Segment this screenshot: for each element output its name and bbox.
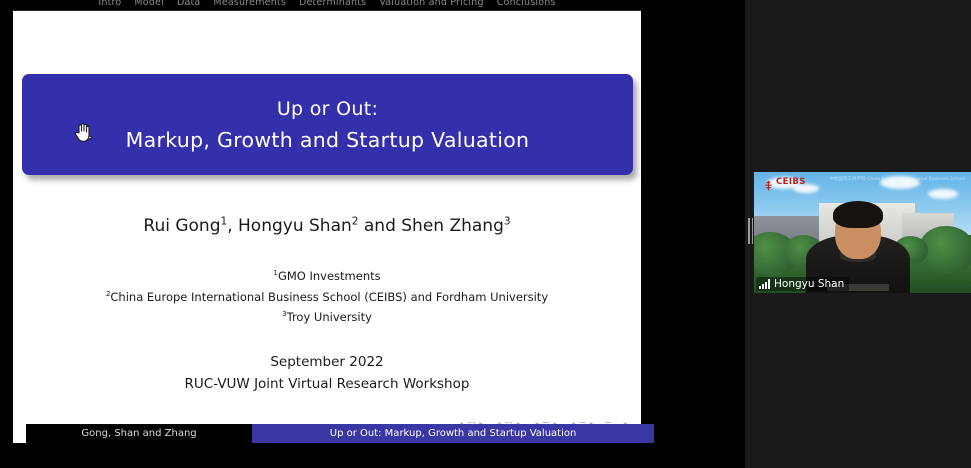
event-venue: RUC-VUW Joint Virtual Research Workshop <box>13 373 641 395</box>
author-name-1: Rui Gong <box>143 216 220 236</box>
affiliation-2: 2China Europe International Business Sch… <box>13 287 641 308</box>
participant-video-tile[interactable]: CEIBS 中欧国际工商学院 China Europe Internationa… <box>754 172 971 293</box>
participant-name: Hongyu Shan <box>774 278 844 290</box>
event-info: September 2022 RUC-VUW Joint Virtual Res… <box>13 351 641 395</box>
slide-title-line-1: Up or Out: <box>277 98 378 120</box>
drag-handle-bar <box>752 218 754 244</box>
cloud-shape <box>928 189 958 199</box>
nav-item-measurements[interactable]: Measurements <box>213 0 286 10</box>
affiliation-1: 1GMO Investments <box>13 266 641 287</box>
signal-bar <box>762 284 764 289</box>
nav-item-determinants[interactable]: Determinants <box>299 0 366 10</box>
footer-authors: Gong, Shan and Zhang <box>26 424 252 443</box>
panel-drag-handle[interactable] <box>747 218 754 244</box>
nav-item-valuation-and-pricing[interactable]: Valuation and Pricing <box>379 0 483 10</box>
affiliation-list: 1GMO Investments 2China Europe Internati… <box>13 266 641 328</box>
signal-bar <box>768 279 770 289</box>
nav-item-conclusions[interactable]: Conclusions <box>497 0 556 10</box>
drag-handle-bar <box>748 218 750 244</box>
affiliation-3: 3Troy University <box>13 307 641 328</box>
screen-root: Intro Model Data Measurements Determinan… <box>0 0 971 468</box>
author-separator-1: , <box>227 216 238 236</box>
nav-item-model[interactable]: Model <box>134 0 164 10</box>
ceibs-logo-subtext: 中欧国际工商学院 China Europe International Busi… <box>830 177 965 183</box>
participant-name-label: Hongyu Shan <box>756 277 849 291</box>
participant-hair <box>833 201 883 228</box>
ceibs-logo-text: CEIBS <box>776 177 806 187</box>
signal-strength-icon <box>759 279 770 289</box>
event-date: September 2022 <box>13 351 641 373</box>
author-affiliation-marker-3: 3 <box>504 215 511 227</box>
nav-item-data[interactable]: Data <box>177 0 200 10</box>
footer-title: Up or Out: Markup, Growth and Startup Va… <box>252 424 654 443</box>
slide-title-line-2: Markup, Growth and Startup Valuation <box>126 128 530 152</box>
slide-canvas[interactable]: Up or Out: Markup, Growth and Startup Va… <box>13 11 641 443</box>
presentation-region: Intro Model Data Measurements Determinan… <box>0 0 745 468</box>
beamer-section-navigation[interactable]: Intro Model Data Measurements Determinan… <box>13 0 641 11</box>
affiliation-text-1: GMO Investments <box>278 269 381 283</box>
slide-title-box: Up or Out: Markup, Growth and Startup Va… <box>22 74 633 175</box>
affiliation-text-2: China Europe International Business Scho… <box>110 290 548 304</box>
author-name-2: Hongyu Shan <box>238 216 352 236</box>
author-name-3: Shen Zhang <box>401 216 504 236</box>
nav-item-intro[interactable]: Intro <box>98 0 121 10</box>
affiliation-text-3: Troy University <box>287 310 372 324</box>
video-panel[interactable]: CEIBS 中欧国际工商学院 China Europe Internationa… <box>745 0 971 468</box>
signal-bar <box>765 282 767 290</box>
signal-bar <box>759 286 761 289</box>
author-separator-2: and <box>358 216 401 236</box>
slide-footer: Gong, Shan and Zhang Up or Out: Markup, … <box>26 424 654 443</box>
ceibs-logo: CEIBS <box>763 176 806 187</box>
ceibs-emblem-icon <box>763 176 774 187</box>
author-list: Rui Gong1, Hongyu Shan2 and Shen Zhang3 <box>13 216 641 236</box>
